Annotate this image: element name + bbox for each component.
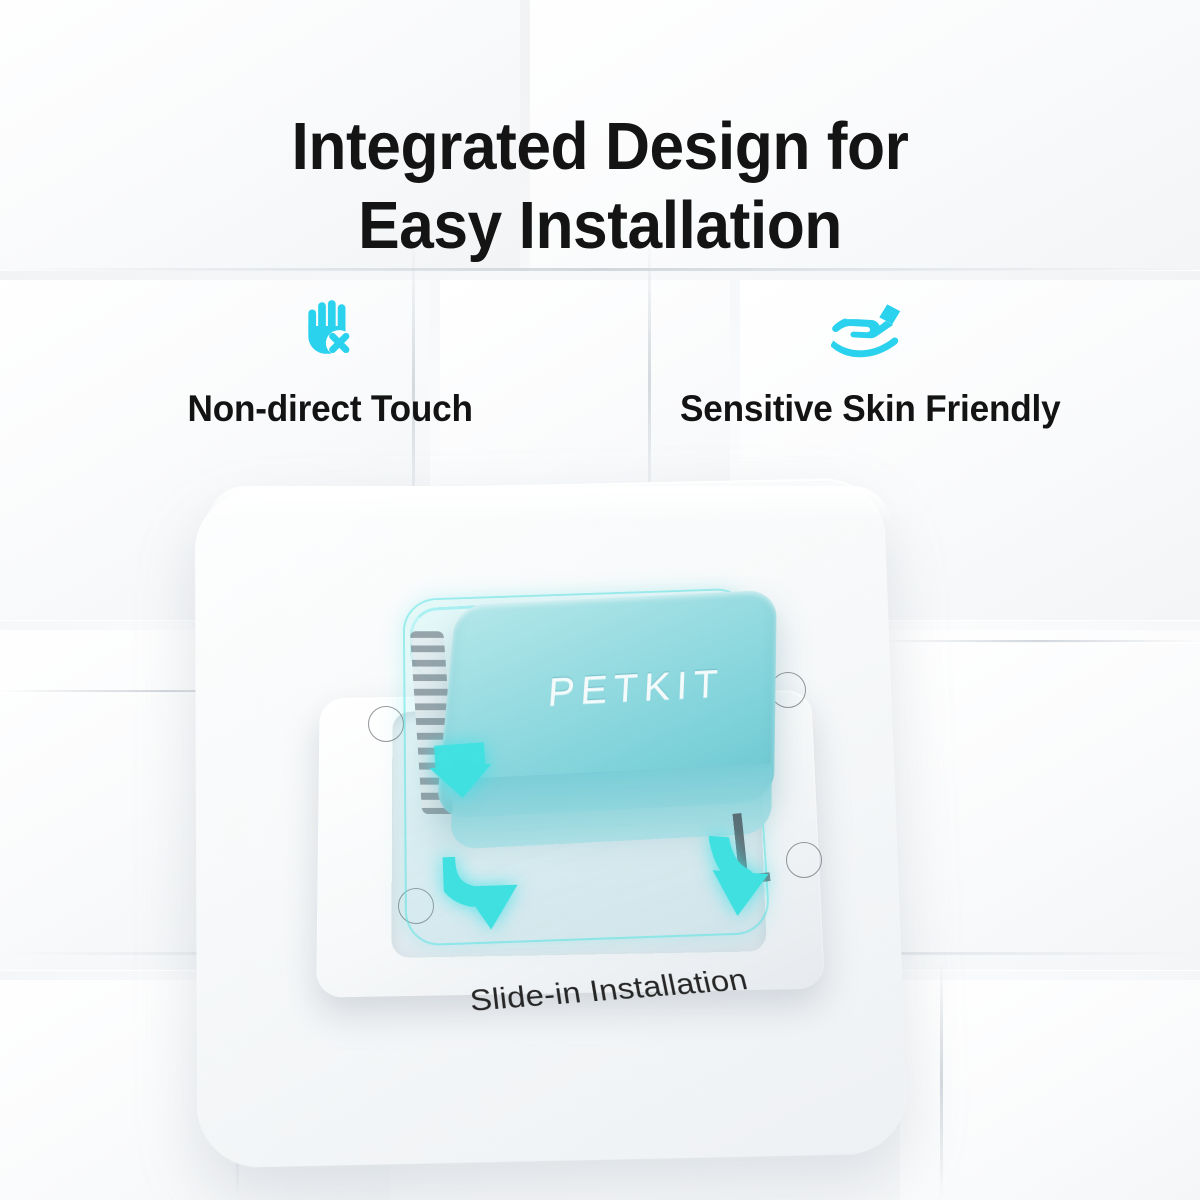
- feature-label-non-direct-touch: Non-direct Touch: [187, 388, 472, 430]
- caring-hand-icon: [831, 292, 909, 364]
- no-touch-hand-icon: [297, 292, 363, 364]
- slide-arrow-left-upper: [428, 740, 494, 807]
- headline-line-1: Integrated Design for: [292, 109, 909, 184]
- feature-list: Non-direct Touch Sensitive Skin Friendly: [60, 292, 1140, 430]
- page-title: Integrated Design for Easy Installation: [42, 107, 1158, 265]
- feature-item-non-direct-touch: Non-direct Touch: [60, 292, 600, 430]
- petkit-brand-logo: PETKIT: [546, 662, 724, 715]
- product-feature-image: Integrated Design for Easy Installation: [0, 0, 1200, 1200]
- feature-label-sensitive-skin-friendly: Sensitive Skin Friendly: [680, 388, 1060, 430]
- headline-line-2: Easy Installation: [42, 186, 1158, 265]
- mounting-point-bottom-right: [786, 842, 822, 878]
- feature-item-sensitive-skin-friendly: Sensitive Skin Friendly: [600, 292, 1140, 430]
- slide-arrow-right-lower: [703, 836, 773, 925]
- slide-arrow-left-lower: [443, 855, 520, 939]
- mounting-point-top-left: [368, 706, 404, 742]
